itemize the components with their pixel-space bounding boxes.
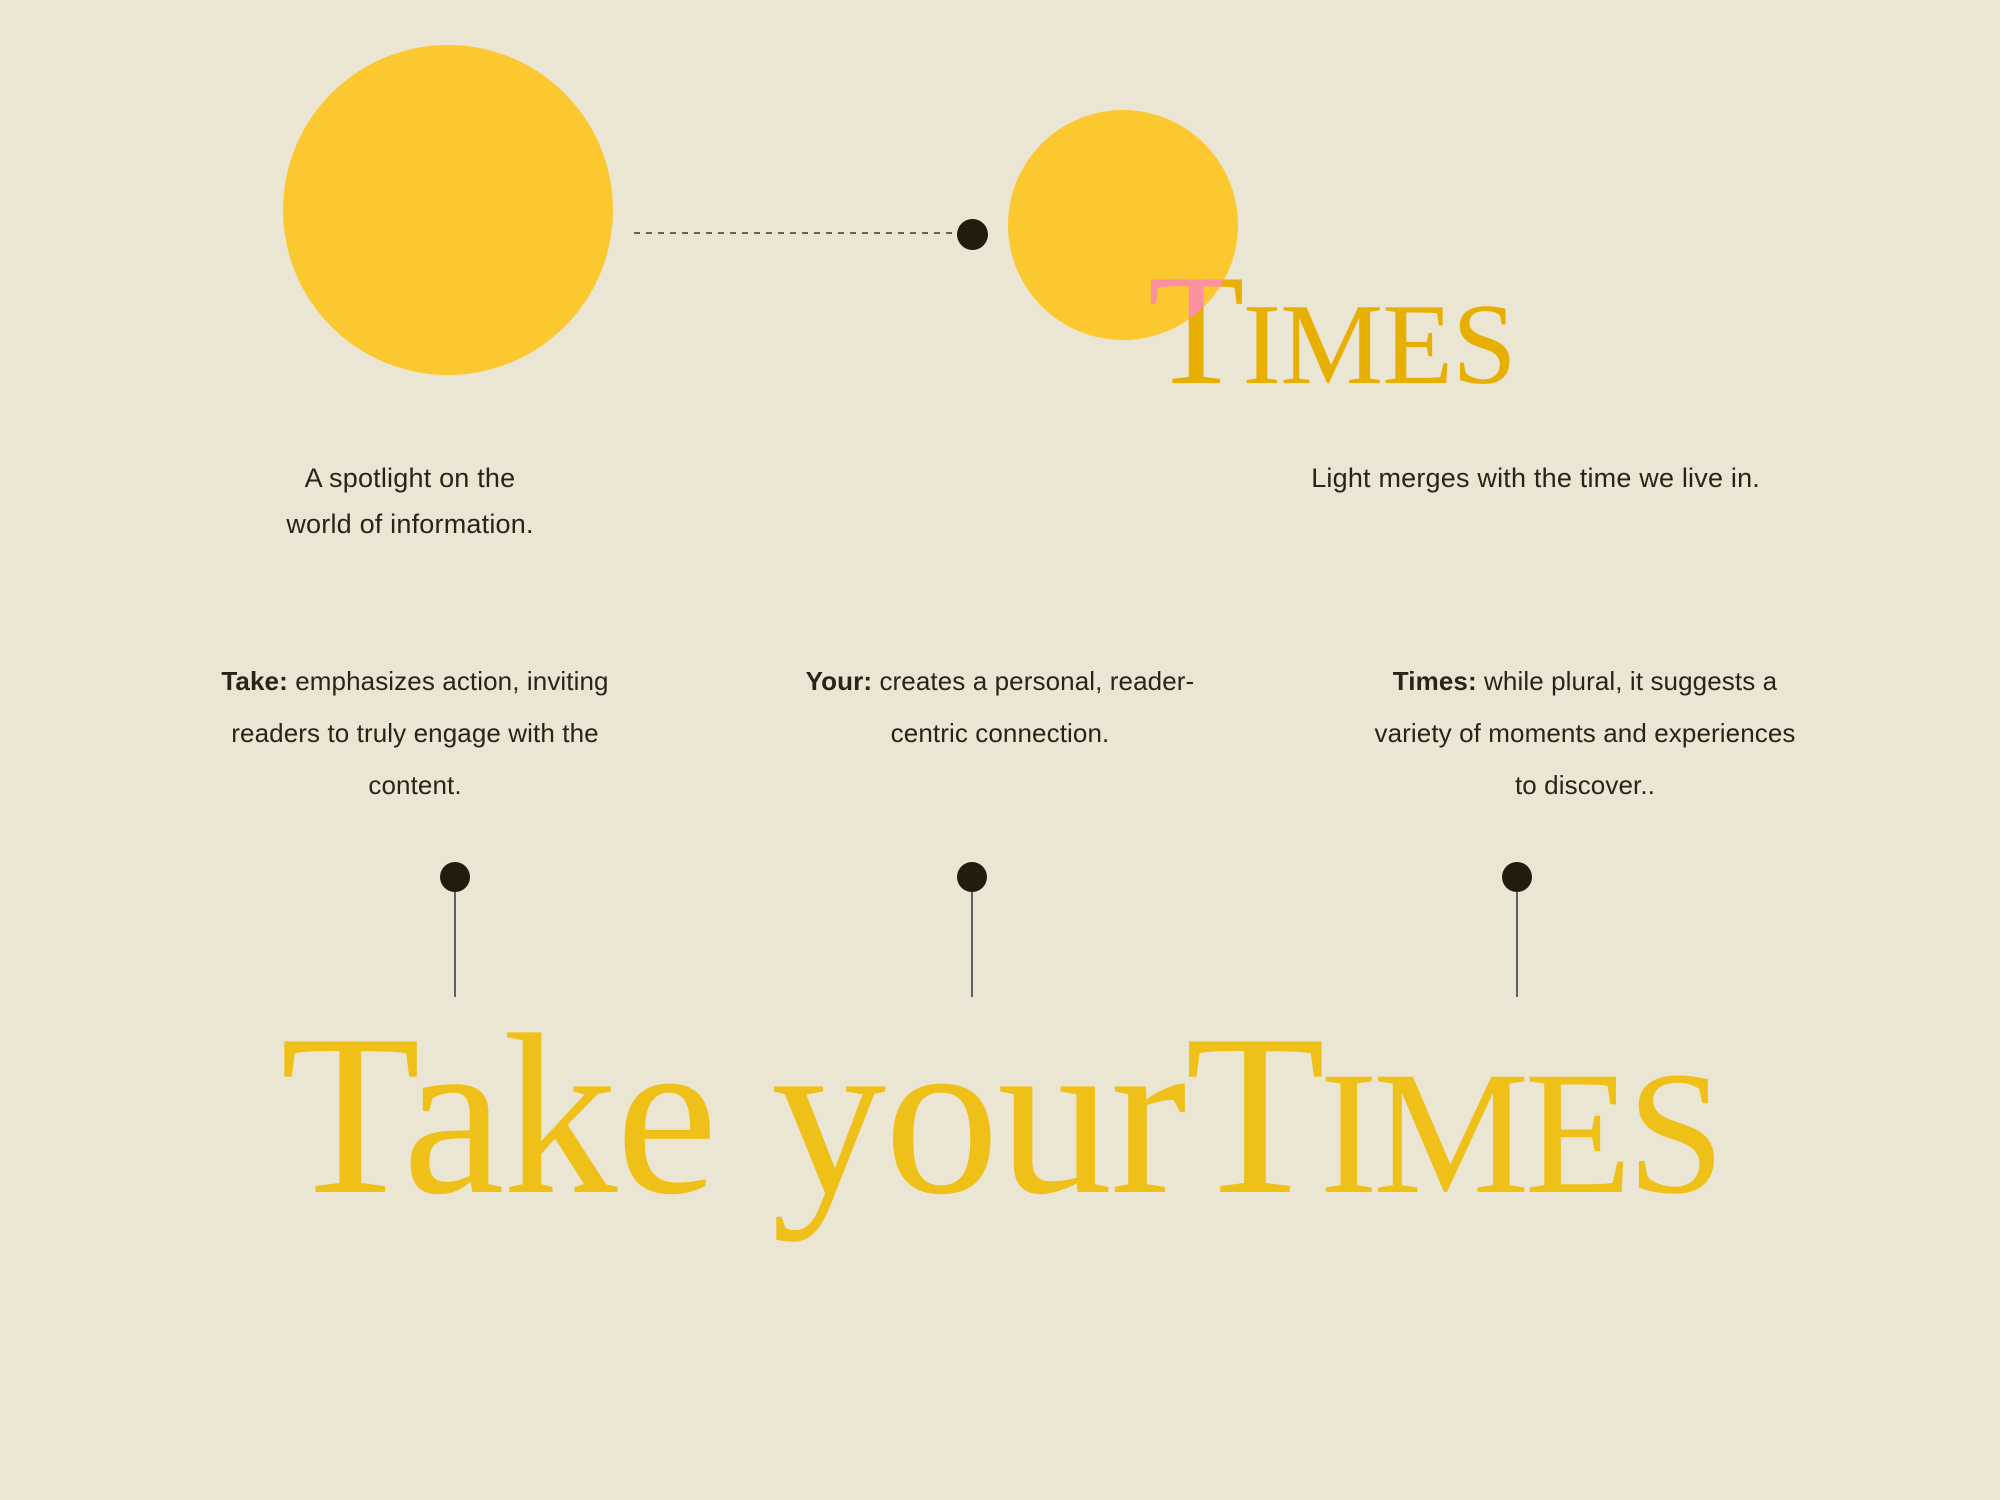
times-logo-lockup: TIMES [1148,252,1516,410]
pin-times [1500,862,1534,997]
hero-times-smallcaps: IMES [1319,1036,1720,1231]
dotted-connector [634,232,962,234]
pin-take [438,862,472,997]
hero-word-take: Take [280,987,716,1242]
caption-left-line-2: world of information. [180,501,640,547]
pin-dot-icon [1502,862,1532,892]
hero-space-1 [716,987,772,1242]
annotation-your-body: creates a personal, reader-centric conne… [872,666,1194,748]
pin-stem [454,892,456,997]
pin-dot-icon [957,862,987,892]
caption-left-line-1: A spotlight on the [180,455,640,501]
annotation-columns: Take: emphasizes action, inviting reader… [200,655,1800,811]
pin-your [955,862,989,997]
connector-node-dot [957,219,988,250]
caption-left: A spotlight on the world of information. [180,455,640,548]
annotation-your-lead: Your: [806,666,872,696]
spotlight-circle [283,45,613,375]
annotation-take-body: emphasizes action, inviting readers to t… [231,666,608,800]
times-logo-smallcaps: IMES [1243,281,1516,409]
pin-stem [971,892,973,997]
annotation-your: Your: creates a personal, reader-centric… [785,655,1215,759]
annotation-times: Times: while plural, it suggests a varie… [1370,655,1800,811]
hero-word-times: TIMES [1185,987,1720,1242]
annotation-take: Take: emphasizes action, inviting reader… [200,655,630,811]
hero-times-cap: T [1185,987,1320,1242]
caption-right: Light merges with the time we live in. [1000,455,1760,501]
times-logo-cap: T [1148,243,1243,418]
hero-word-your: your [771,987,1185,1242]
hero-headline: Take yourTIMES [0,1000,2000,1230]
annotation-take-lead: Take: [221,666,288,696]
annotation-times-lead: Times: [1393,666,1477,696]
pin-dot-icon [440,862,470,892]
poster-canvas: TIMES A spotlight on the world of inform… [0,0,2000,1500]
pin-stem [1516,892,1518,997]
